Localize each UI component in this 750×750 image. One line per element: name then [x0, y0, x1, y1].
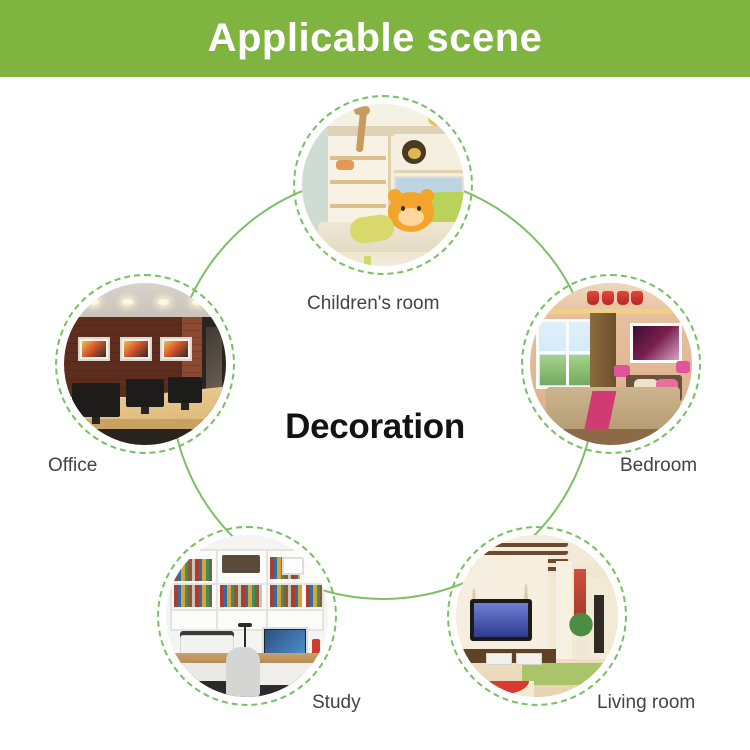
scene-node-study[interactable] — [157, 526, 337, 706]
living-room-ring — [447, 526, 627, 706]
bedroom-ring — [521, 274, 701, 454]
scene-label-bedroom: Bedroom — [620, 455, 697, 477]
header-banner: Applicable scene — [0, 0, 750, 77]
diagram-stage: Decoration — [0, 77, 750, 750]
applicable-scene-infographic: Applicable scene Decoration — [0, 0, 750, 750]
scene-label-study: Study — [312, 692, 361, 714]
scene-node-office[interactable] — [55, 274, 235, 454]
children-room-ring — [293, 95, 473, 275]
scene-label-living-room: Living room — [597, 692, 695, 714]
office-ring — [55, 274, 235, 454]
scene-node-bedroom[interactable] — [521, 274, 701, 454]
page-title: Applicable scene — [208, 16, 543, 61]
scene-node-children-room[interactable] — [293, 95, 473, 275]
scene-label-office: Office — [48, 455, 97, 477]
study-ring — [157, 526, 337, 706]
scene-node-living-room[interactable] — [447, 526, 627, 706]
scene-label-children-room: Children's room — [307, 293, 439, 315]
